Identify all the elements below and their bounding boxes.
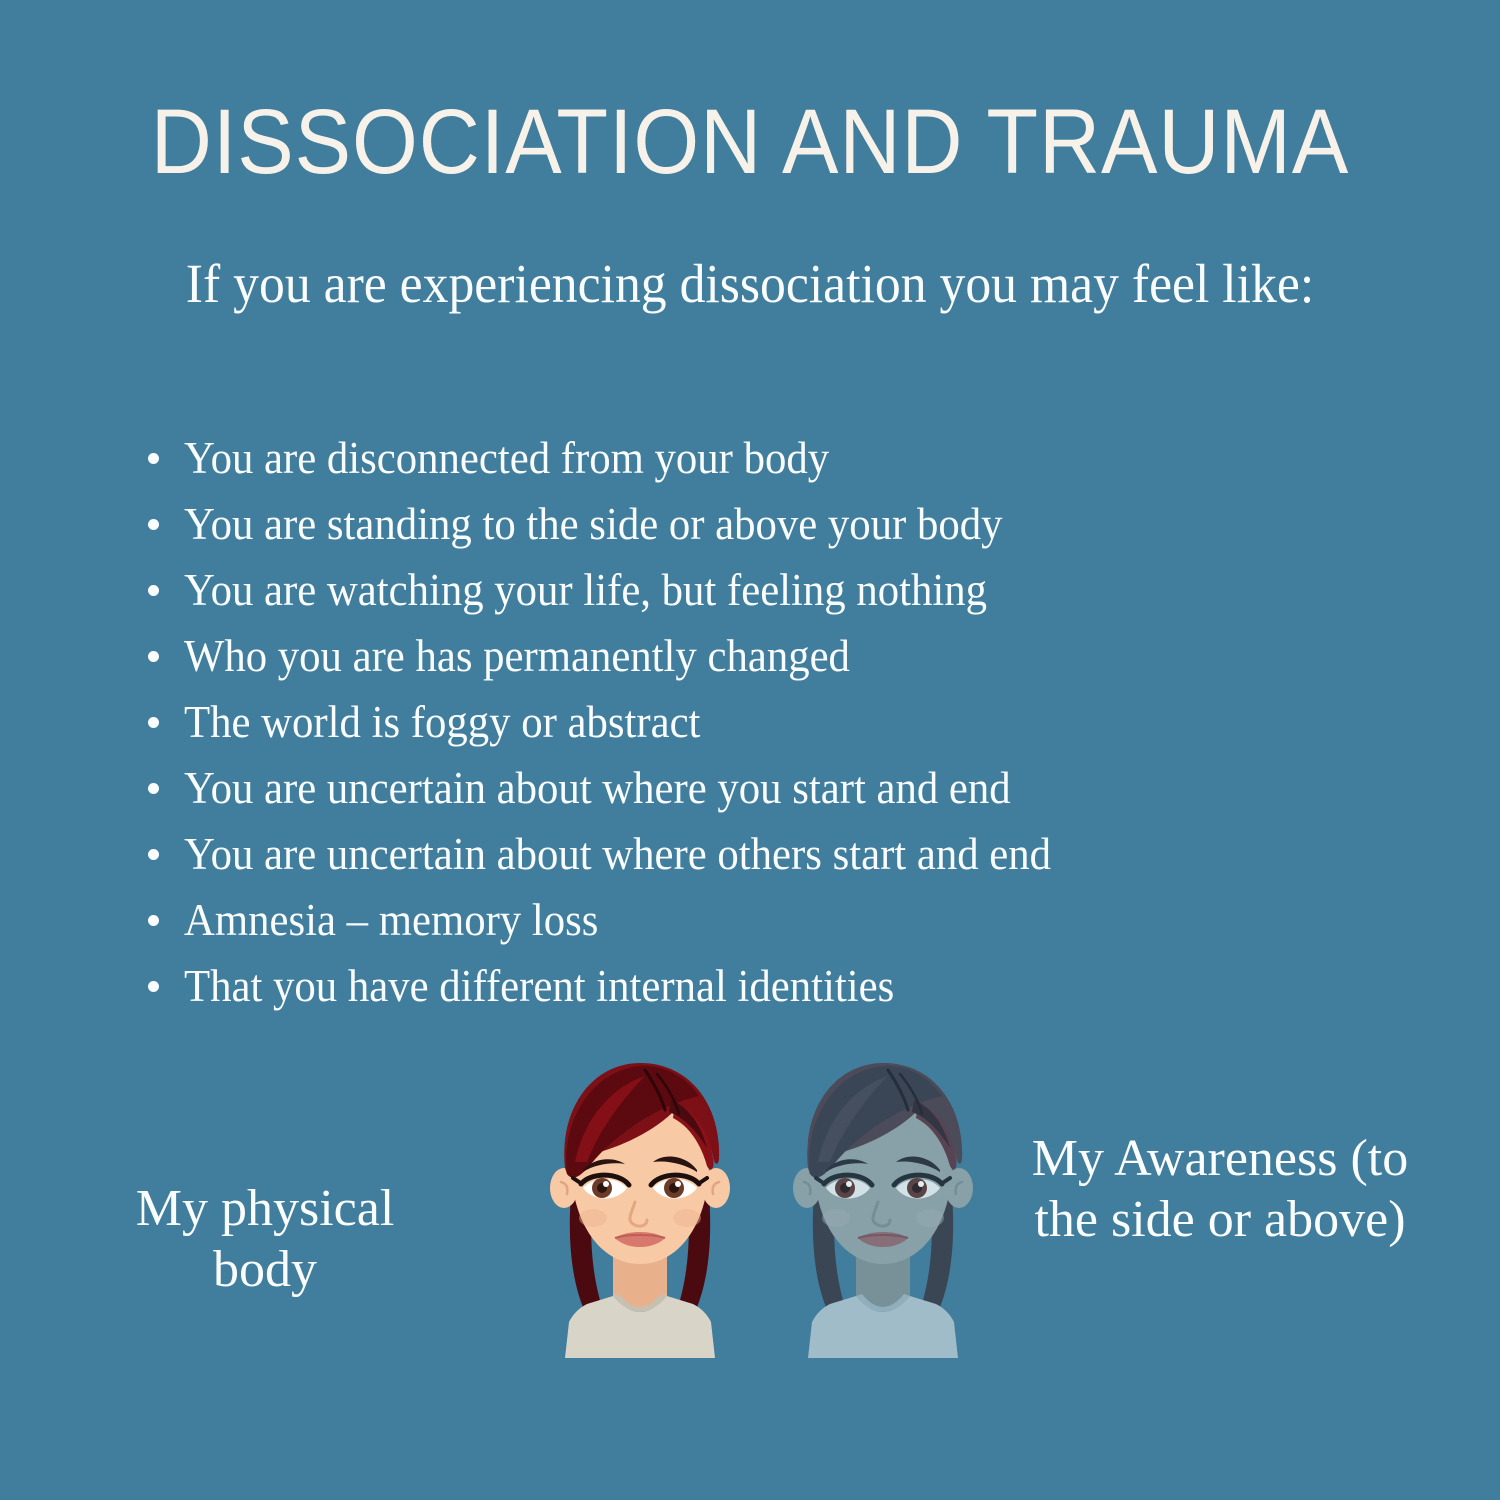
symptom-list: You are disconnected from your body You … [148, 425, 1348, 1019]
bullet-dot-icon [148, 717, 159, 728]
list-item: The world is foggy or abstract [148, 689, 1348, 755]
list-item-label: The world is foggy or abstract [184, 689, 700, 755]
list-item-label: Amnesia – memory loss [184, 887, 598, 953]
list-item: Who you are has permanently changed [148, 623, 1348, 689]
caption-awareness: My Awareness (to the side or above) [1030, 1128, 1410, 1251]
list-item-label: You are standing to the side or above yo… [184, 491, 1002, 557]
bullet-dot-icon [148, 849, 159, 860]
list-item-label: Who you are has permanently changed [184, 623, 850, 689]
list-item: Amnesia – memory loss [148, 887, 1348, 953]
list-item-label: You are disconnected from your body [184, 425, 829, 491]
list-item-label: You are uncertain about where others sta… [184, 821, 1051, 887]
list-item: That you have different internal identit… [148, 953, 1348, 1019]
list-item-label: That you have different internal identit… [184, 953, 894, 1019]
bullet-dot-icon [148, 651, 159, 662]
bullet-dot-icon [148, 585, 159, 596]
list-item-label: You are watching your life, but feeling … [184, 557, 987, 623]
subtitle-text: If you are experiencing dissociation you… [45, 256, 1455, 311]
physical-body-avatar-icon [535, 1052, 745, 1382]
bullet-dot-icon [148, 453, 159, 464]
page-title: DISSOCIATION AND TRAUMA [60, 96, 1440, 188]
bullet-dot-icon [148, 981, 159, 992]
bullet-dot-icon [148, 915, 159, 926]
awareness-avatar-icon [778, 1052, 988, 1382]
list-item: You are watching your life, but feeling … [148, 557, 1348, 623]
list-item: You are standing to the side or above yo… [148, 491, 1348, 557]
bullet-dot-icon [148, 783, 159, 794]
bullet-dot-icon [148, 519, 159, 530]
caption-physical-body: My physical body [90, 1178, 440, 1301]
list-item-label: You are uncertain about where you start … [184, 755, 1011, 821]
list-item: You are uncertain about where you start … [148, 755, 1348, 821]
poster-canvas: DISSOCIATION AND TRAUMA If you are exper… [0, 0, 1500, 1500]
list-item: You are uncertain about where others sta… [148, 821, 1348, 887]
list-item: You are disconnected from your body [148, 425, 1348, 491]
